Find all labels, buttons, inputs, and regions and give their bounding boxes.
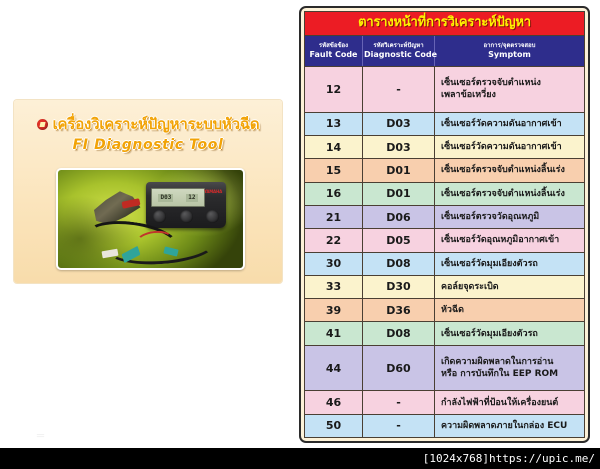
column-header-fault-code-thai: รหัสข้อข้อง (306, 42, 361, 50)
cell-fault-code: 41 (305, 322, 363, 344)
table-row: 30D08เซ็นเซอร์วัดมุมเอียงตัวรถ (305, 253, 584, 276)
lcd-right-value: 12 (186, 194, 197, 202)
footer-url: https://upic.me/ (489, 452, 595, 465)
cell-diagnostic-code: - (363, 415, 435, 437)
ghost-toolbar (14, 430, 67, 443)
table-row: 16D01เซ็นเซอร์ตรวจจับตำแหน่งลิ้นเร่ง (305, 183, 584, 206)
footer-resolution: [1024x768] (423, 452, 489, 465)
table-row: 33D30คอล์ยจุดระเบิด (305, 276, 584, 299)
cell-symptom: เซ็นเซอร์วัดความดันอากาศเข้า (435, 113, 584, 135)
cell-fault-code: 44 (305, 346, 363, 391)
table-row: 39D36หัวฉีด (305, 299, 584, 322)
cell-diagnostic-code: D60 (363, 346, 435, 391)
table-row: 14D03เซ็นเซอร์วัดความดันอากาศเข้า (305, 136, 584, 159)
table-row: 12-เซ็นเซอร์ตรวจจับตำแหน่ง เพลาข้อเหวี่ย… (305, 67, 584, 113)
cell-symptom: เซ็นเซอร์วัดความดันอากาศเข้า (435, 136, 584, 158)
cell-symptom: เซ็นเซอร์วัดอุณหภูมิอากาศเข้า (435, 229, 584, 251)
cell-diagnostic-code: D30 (363, 276, 435, 298)
cell-fault-code: 50 (305, 415, 363, 437)
cell-symptom: เซ็นเซอร์วัดมุมเอียงตัวรถ (435, 322, 584, 344)
column-header-fault-code: รหัสข้อข้อง Fault Code (305, 36, 363, 66)
cell-diagnostic-code: D03 (363, 136, 435, 158)
table-title: ตารางหน้าที่การวิเคราะห์ปัญหา (305, 12, 584, 36)
cell-fault-code: 12 (305, 67, 363, 112)
cell-fault-code: 33 (305, 276, 363, 298)
fault-code-table-card: ตารางหน้าที่การวิเคราะห์ปัญหา รหัสข้อข้อ… (299, 6, 590, 443)
device-button-row (153, 210, 219, 223)
table-row: 41D08เซ็นเซอร์วัดมุมเอียงตัวรถ (305, 322, 584, 345)
product-title-english: FI Diagnostic Tool (14, 137, 282, 153)
device-button-3 (206, 210, 219, 223)
column-header-fault-code-english: Fault Code (306, 50, 361, 60)
column-header-diagnostic-code: รหัสวิเคราะห์ปัญหา Diagnostic Code (363, 36, 435, 66)
table-row: 50-ความผิดพลาดภายในกล่อง ECU (305, 415, 584, 437)
cell-symptom: เซ็นเซอร์ตรวจวัดอุณหภูมิ (435, 206, 584, 228)
product-title-thai: เครื่องวิเคราะห์ปัญหาระบบหัวฉีด (53, 112, 260, 136)
table-header-row: รหัสข้อข้อง Fault Code รหัสวิเคราะห์ปัญห… (305, 36, 584, 67)
cell-fault-code: 30 (305, 253, 363, 275)
cell-symptom: เซ็นเซอร์วัดมุมเอียงตัวรถ (435, 253, 584, 275)
cell-diagnostic-code: D06 (363, 206, 435, 228)
red-bullet-icon (37, 119, 48, 130)
arrow-icon (54, 430, 67, 443)
cell-symptom: กำลังไฟฟ้าที่ป้อนให้เครื่องยนต์ (435, 391, 584, 413)
table-row: 21D06เซ็นเซอร์ตรวจวัดอุณหภูมิ (305, 206, 584, 229)
cell-fault-code: 46 (305, 391, 363, 413)
footer-watermark-bar: [1024x768]https://upic.me/ (0, 448, 600, 469)
table-row: 22D05เซ็นเซอร์วัดอุณหภูมิอากาศเข้า (305, 229, 584, 252)
lcd-left-value: D03 (158, 194, 173, 202)
table-row: 44D60เกิดความผิดพลาดในการอ่าน หรือ การบั… (305, 346, 584, 392)
column-header-symptom-thai: อาการ/จุดตรวจสอบ (436, 42, 583, 50)
cell-diagnostic-code: D36 (363, 299, 435, 321)
cell-diagnostic-code: D08 (363, 253, 435, 275)
table-row: 15D01เซ็นเซอร์ตรวจจับตำแหน่งลิ้นเร่ง (305, 159, 584, 182)
cell-symptom: เซ็นเซอร์ตรวจจับตำแหน่งลิ้นเร่ง (435, 183, 584, 205)
product-title-thai-row: เครื่องวิเคราะห์ปัญหาระบบหัวฉีด (14, 112, 282, 136)
cell-fault-code: 13 (305, 113, 363, 135)
device-brand-label: YAMAHA (204, 189, 222, 194)
table-body: 12-เซ็นเซอร์ตรวจจับตำแหน่ง เพลาข้อเหวี่ย… (305, 67, 584, 437)
cell-fault-code: 16 (305, 183, 363, 205)
cell-diagnostic-code: - (363, 67, 435, 112)
cell-symptom: คอล์ยจุดระเบิด (435, 276, 584, 298)
column-header-diagnostic-code-english: Diagnostic Code (364, 50, 433, 60)
product-title-block: เครื่องวิเคราะห์ปัญหาระบบหัวฉีด FI Diagn… (14, 112, 282, 153)
cell-symptom: เซ็นเซอร์ตรวจจับตำแหน่งลิ้นเร่ง (435, 159, 584, 181)
cell-symptom: เกิดความผิดพลาดในการอ่าน หรือ การบันทึกใ… (435, 346, 584, 391)
cell-diagnostic-code: D01 (363, 183, 435, 205)
column-header-symptom: อาการ/จุดตรวจสอบ Symptom (435, 36, 584, 66)
cell-symptom: เซ็นเซอร์ตรวจจับตำแหน่ง เพลาข้อเหวี่ยง (435, 67, 584, 112)
fi-diagnostic-device: D03 12 YAMAHA (146, 182, 226, 228)
product-photo: D03 12 YAMAHA (56, 168, 245, 270)
cell-diagnostic-code: D01 (363, 159, 435, 181)
device-lcd-screen: D03 12 (151, 188, 205, 207)
cell-diagnostic-code: - (363, 391, 435, 413)
column-header-diagnostic-code-thai: รหัสวิเคราะห์ปัญหา (364, 42, 433, 50)
cell-diagnostic-code: D05 (363, 229, 435, 251)
column-header-symptom-english: Symptom (436, 50, 583, 60)
product-panel: เครื่องวิเคราะห์ปัญหาระบบหัวฉีด FI Diagn… (14, 100, 282, 283)
device-button-2 (180, 210, 193, 223)
footer-watermark-text: [1024x768]https://upic.me/ (423, 452, 600, 465)
cell-fault-code: 15 (305, 159, 363, 181)
cell-fault-code: 39 (305, 299, 363, 321)
device-button-1 (153, 210, 166, 223)
cell-diagnostic-code: D03 (363, 113, 435, 135)
cell-symptom: ความผิดพลาดภายในกล่อง ECU (435, 415, 584, 437)
cell-fault-code: 21 (305, 206, 363, 228)
table-row: 13D03เซ็นเซอร์วัดความดันอากาศเข้า (305, 113, 584, 136)
fault-code-table: ตารางหน้าที่การวิเคราะห์ปัญหา รหัสข้อข้อ… (304, 11, 585, 438)
cell-fault-code: 22 (305, 229, 363, 251)
cell-symptom: หัวฉีด (435, 299, 584, 321)
pencil-icon (14, 430, 27, 443)
list-icon (34, 430, 47, 443)
table-row: 46-กำลังไฟฟ้าที่ป้อนให้เครื่องยนต์ (305, 391, 584, 414)
cell-diagnostic-code: D08 (363, 322, 435, 344)
cell-fault-code: 14 (305, 136, 363, 158)
